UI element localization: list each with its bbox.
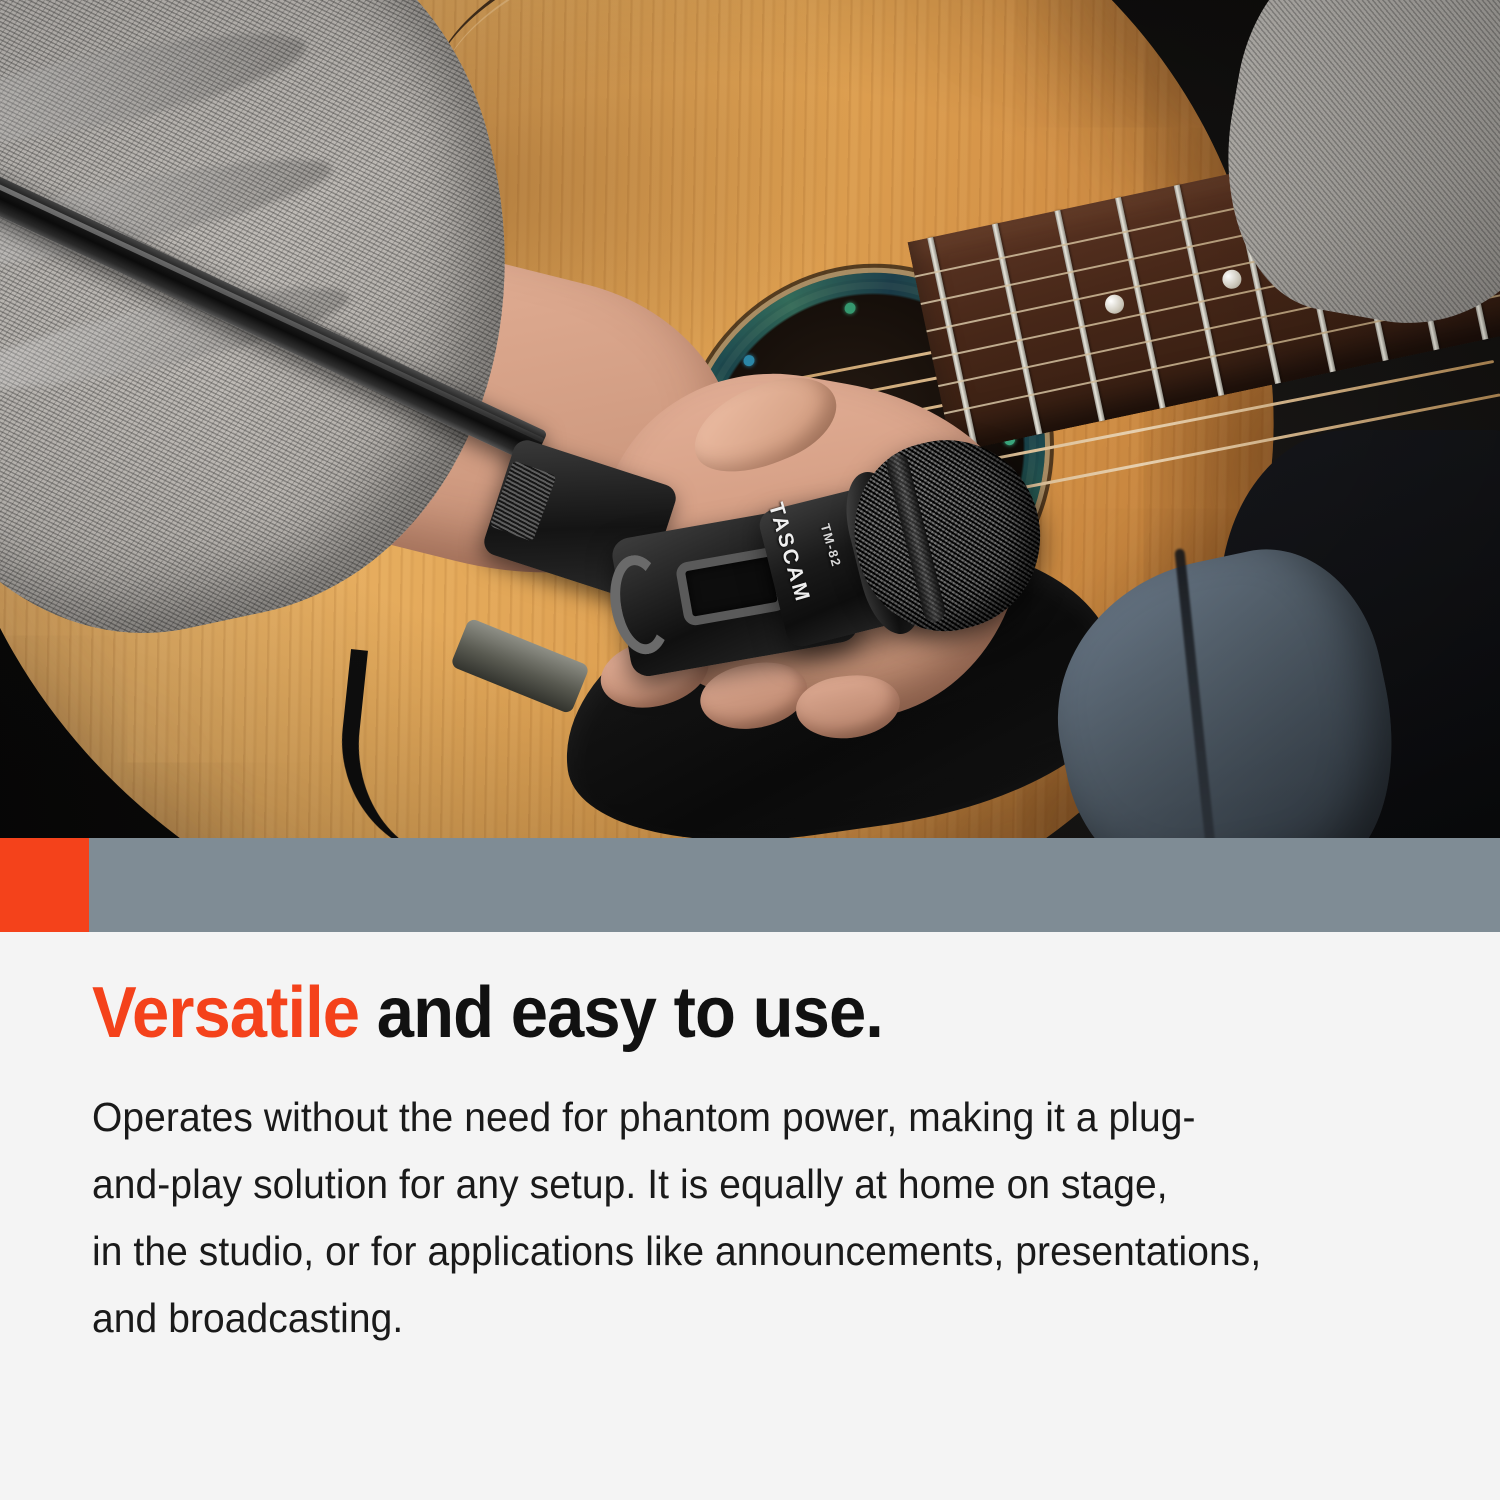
body-line: and broadcasting. xyxy=(92,1295,403,1341)
body-line: in the studio, or for applications like … xyxy=(92,1228,1261,1274)
accent-divider-bar xyxy=(0,838,1500,932)
feature-text-block: Versatile and easy to use. Operates with… xyxy=(0,932,1500,1500)
page-title: Versatile and easy to use. xyxy=(92,976,883,1051)
product-feature-page: TASCAM TM-82 Versatile and easy to use. … xyxy=(0,0,1500,1500)
body-line: Operates without the need for phantom po… xyxy=(92,1094,1196,1140)
grey-rule xyxy=(89,838,1500,932)
body-line: and-play solution for any setup. It is e… xyxy=(92,1161,1168,1207)
hero-photo: TASCAM TM-82 xyxy=(0,0,1500,838)
headline-rest: and easy to use. xyxy=(359,973,883,1053)
feature-description: Operates without the need for phantom po… xyxy=(92,1084,1346,1352)
headline-accent-word: Versatile xyxy=(92,973,359,1053)
accent-block xyxy=(0,838,89,932)
